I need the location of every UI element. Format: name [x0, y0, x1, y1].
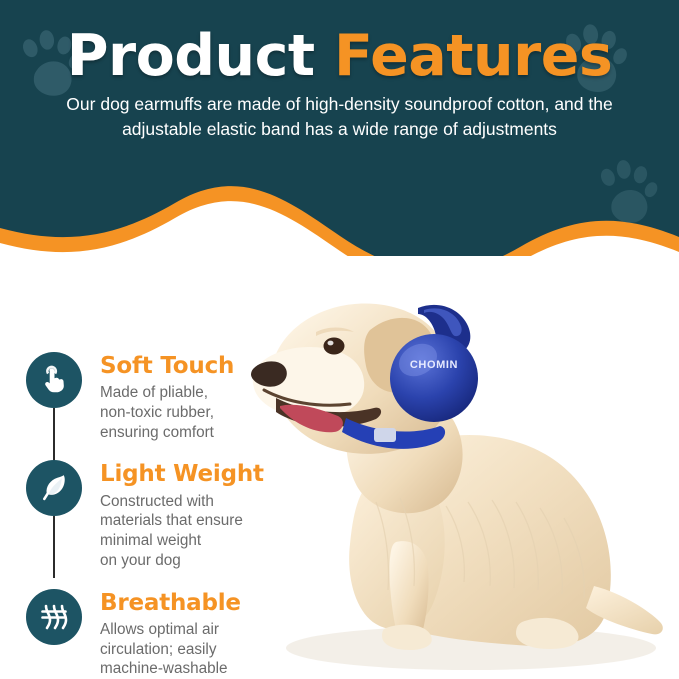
- feature-description: Constructed with materials that ensure m…: [100, 492, 294, 571]
- feature-item-soft-touch: Soft Touch Made of pliable, non-toxic ru…: [26, 352, 294, 442]
- feature-description: Made of pliable, non-toxic rubber, ensur…: [100, 383, 294, 442]
- feature-list: Soft Touch Made of pliable, non-toxic ru…: [26, 352, 294, 679]
- feature-text-block: Breathable Allows optimal air circulatio…: [100, 589, 294, 679]
- feature-text-block: Soft Touch Made of pliable, non-toxic ru…: [100, 352, 294, 442]
- feature-title: Soft Touch: [100, 354, 294, 379]
- feature-description: Allows optimal air circulation; easily m…: [100, 620, 294, 679]
- feature-title: Breathable: [100, 591, 294, 616]
- airflow-icon: [26, 589, 82, 645]
- dog-eye: [324, 338, 345, 355]
- feature-item-light-weight: Light Weight Constructed with materials …: [26, 460, 294, 570]
- feature-text-block: Light Weight Constructed with materials …: [100, 460, 294, 570]
- earmuff-buckle: [374, 428, 396, 442]
- feature-connector-line: [53, 516, 55, 578]
- product-features-infographic: Product Features Our dog earmuffs are ma…: [0, 0, 679, 679]
- feature-item-breathable: Breathable Allows optimal air circulatio…: [26, 589, 294, 679]
- product-photo-dog-with-earmuffs: CHOMIN: [246, 256, 679, 679]
- hand-tap-icon: [26, 352, 82, 408]
- feature-icon-column: [26, 352, 100, 408]
- dog-eye-highlight: [328, 341, 334, 346]
- feather-icon: [26, 460, 82, 516]
- feature-icon-column: [26, 589, 100, 645]
- earmuff-cup: [390, 334, 478, 422]
- feature-title: Light Weight: [100, 462, 294, 487]
- feature-icon-column: [26, 460, 100, 516]
- earmuff-brand-text: CHOMIN: [410, 359, 458, 371]
